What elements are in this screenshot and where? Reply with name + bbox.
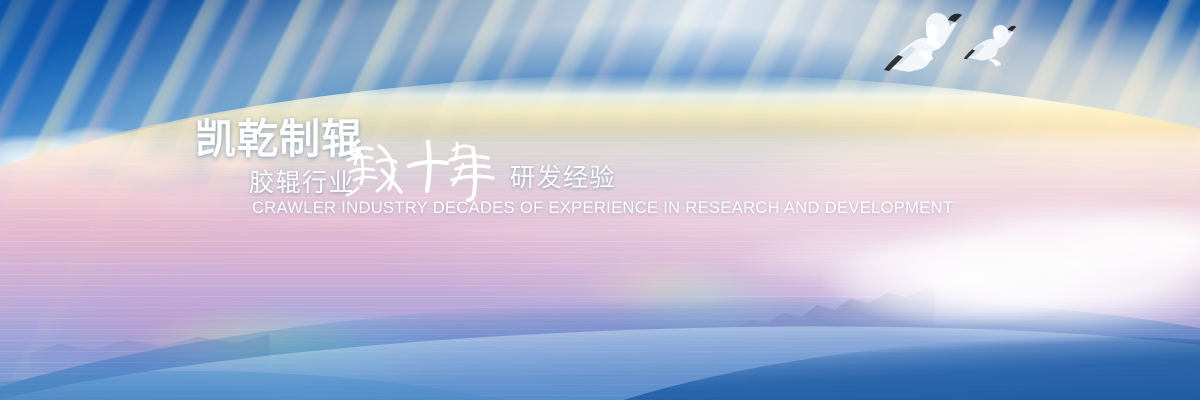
seagulls-group [865, 2, 1045, 88]
seagull-icon [884, 13, 962, 72]
hero-banner: 凯乾制辊 胶辊行业 [0, 0, 1200, 400]
seagull-icon [964, 25, 1017, 66]
